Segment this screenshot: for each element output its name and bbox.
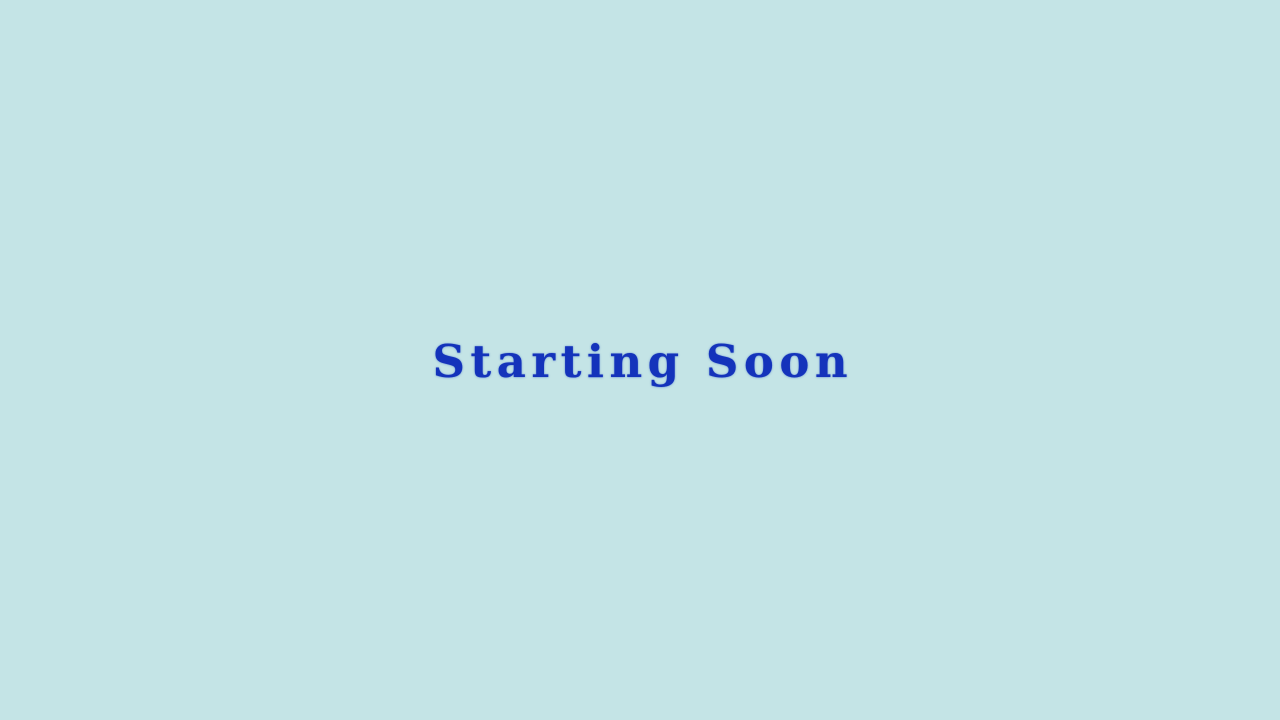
message-block: Starting Soon xyxy=(0,326,1280,396)
starting-soon-headline: Starting Soon xyxy=(432,339,853,384)
starting-soon-screen: Starting Soon xyxy=(0,0,1280,720)
